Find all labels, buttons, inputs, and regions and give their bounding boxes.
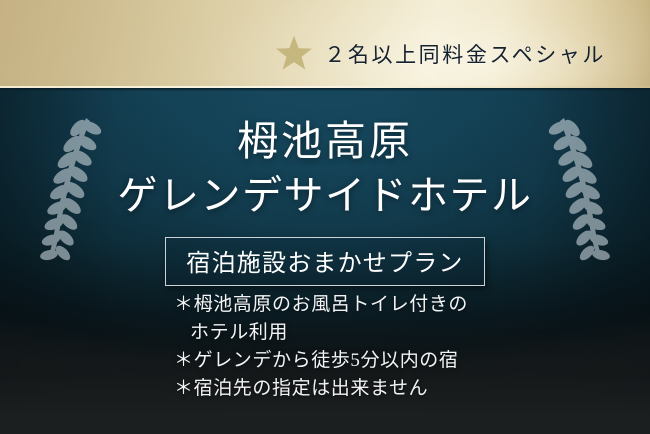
header-row: ２名以上同料金スペシャル (0, 0, 650, 86)
plan-label-wrapper: 宿泊施設おまかせプラン (0, 237, 650, 286)
gold-band-shadow (0, 88, 650, 91)
star-icon (274, 34, 314, 74)
list-item: ＊ゲレンデから徒歩5分以内の宿 (174, 347, 594, 375)
list-item: ＊栂池高原のお風呂トイレ付きの (174, 291, 594, 319)
list-item: ＊宿泊先の指定は出来ません (174, 375, 594, 403)
promo-headline: ２名以上同料金スペシャル (324, 39, 606, 69)
list-item-continuation: ホテル利用 (174, 319, 594, 347)
page-title-line2: ゲレンデサイドホテル (0, 172, 650, 220)
promo-banner: ２名以上同料金スペシャル (0, 0, 650, 434)
title-block: 栂池高原 ゲレンデサイドホテル (0, 118, 650, 220)
page-title-line1: 栂池高原 (0, 118, 650, 166)
notes-list: ＊栂池高原のお風呂トイレ付きの ホテル利用 ＊ゲレンデから徒歩5分以内の宿 ＊宿… (174, 291, 594, 403)
plan-label: 宿泊施設おまかせプラン (165, 237, 484, 286)
